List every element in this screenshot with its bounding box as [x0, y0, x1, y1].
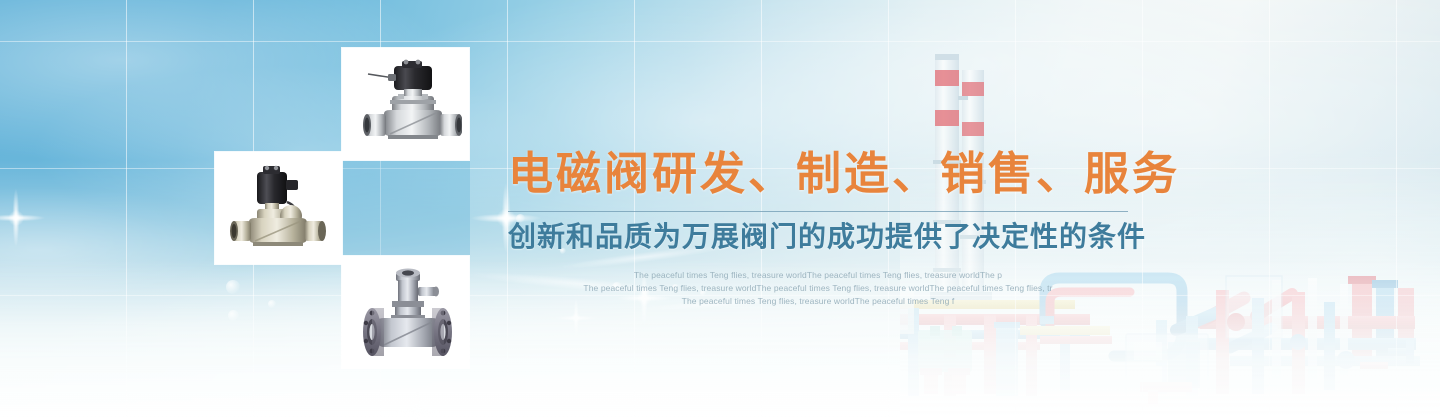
solenoid-valve-brass-photo[interactable]	[215, 152, 342, 264]
page-subtitle: 创新和品质为万展阀门的成功提供了决定性的条件	[508, 222, 1128, 253]
page-title: 电磁阀研发、制造、销售、服务	[508, 150, 1128, 197]
body-copy: The peaceful times Teng flies, treasure …	[508, 269, 1128, 309]
hero-banner: 电磁阀研发、制造、销售、服务 创新和品质为万展阀门的成功提供了决定性的条件 Th…	[0, 0, 1440, 420]
tinted-grid-cell	[342, 160, 470, 256]
body-line-2: The peaceful times Teng flies, treasure …	[508, 282, 1128, 295]
solenoid-valve-threaded-photo[interactable]	[342, 48, 469, 160]
hero-text-block: 电磁阀研发、制造、销售、服务 创新和品质为万展阀门的成功提供了决定性的条件 Th…	[508, 150, 1128, 309]
body-line-1: The peaceful times Teng flies, treasure …	[508, 269, 1128, 282]
body-line-3: The peaceful times Teng flies, treasure …	[508, 295, 1128, 308]
title-divider	[508, 211, 1128, 212]
solenoid-valve-flanged-photo[interactable]	[342, 256, 469, 368]
